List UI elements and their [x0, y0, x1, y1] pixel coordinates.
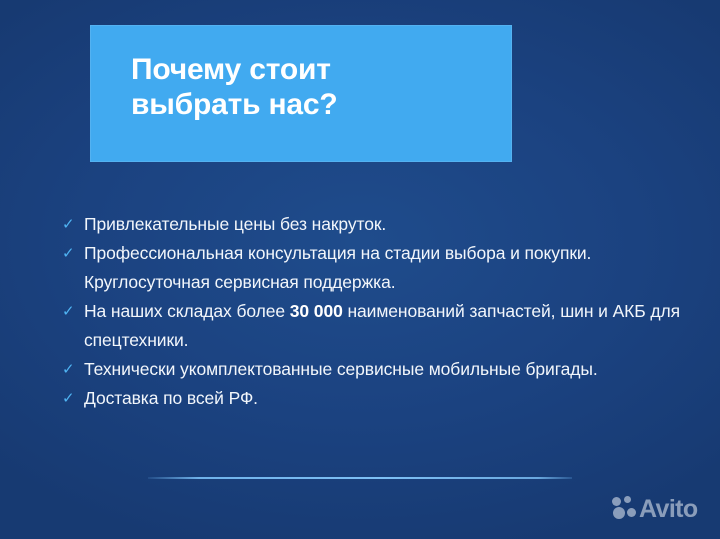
check-icon: ✓: [62, 239, 84, 268]
check-icon: ✓: [62, 355, 84, 384]
avito-wordmark: Avito: [639, 496, 698, 522]
check-icon: ✓: [62, 384, 84, 413]
plain-text: Доставка по всей РФ.: [84, 388, 258, 408]
check-icon: ✓: [62, 210, 84, 239]
list-item: ✓Технически укомплектованные сервисные м…: [62, 355, 682, 384]
page-title: Почему стоит выбрать нас?: [131, 52, 491, 122]
list-item-label: На наших складах более 30 000 наименован…: [84, 297, 682, 355]
list-item: ✓На наших складах более 30 000 наименова…: [62, 297, 682, 355]
check-icon: ✓: [62, 297, 84, 326]
benefits-list: ✓Привлекательные цены без накруток.✓Проф…: [62, 210, 682, 413]
plain-text: Привлекательные цены без накруток.: [84, 214, 386, 234]
plain-text: Технически укомплектованные сервисные мо…: [84, 359, 598, 379]
plain-text: На наших складах более: [84, 301, 290, 321]
title-highlight-box: Почему стоит выбрать нас?: [90, 25, 512, 162]
list-item-label: Технически укомплектованные сервисные мо…: [84, 355, 682, 384]
list-item: ✓Профессиональная консультация на стадии…: [62, 239, 682, 297]
avito-dots-icon: [612, 496, 638, 522]
plain-text: Профессиональная консультация на стадии …: [84, 243, 591, 292]
divider-line: [148, 477, 572, 479]
list-item: ✓Привлекательные цены без накруток.: [62, 210, 682, 239]
avito-watermark: Avito: [612, 496, 698, 522]
list-item-label: Доставка по всей РФ.: [84, 384, 682, 413]
list-item-label: Профессиональная консультация на стадии …: [84, 239, 682, 297]
slide-canvas: Почему стоит выбрать нас? ✓Привлекательн…: [0, 0, 720, 539]
list-item: ✓Доставка по всей РФ.: [62, 384, 682, 413]
emphasis-text: 30 000: [290, 301, 343, 321]
list-item-label: Привлекательные цены без накруток.: [84, 210, 682, 239]
